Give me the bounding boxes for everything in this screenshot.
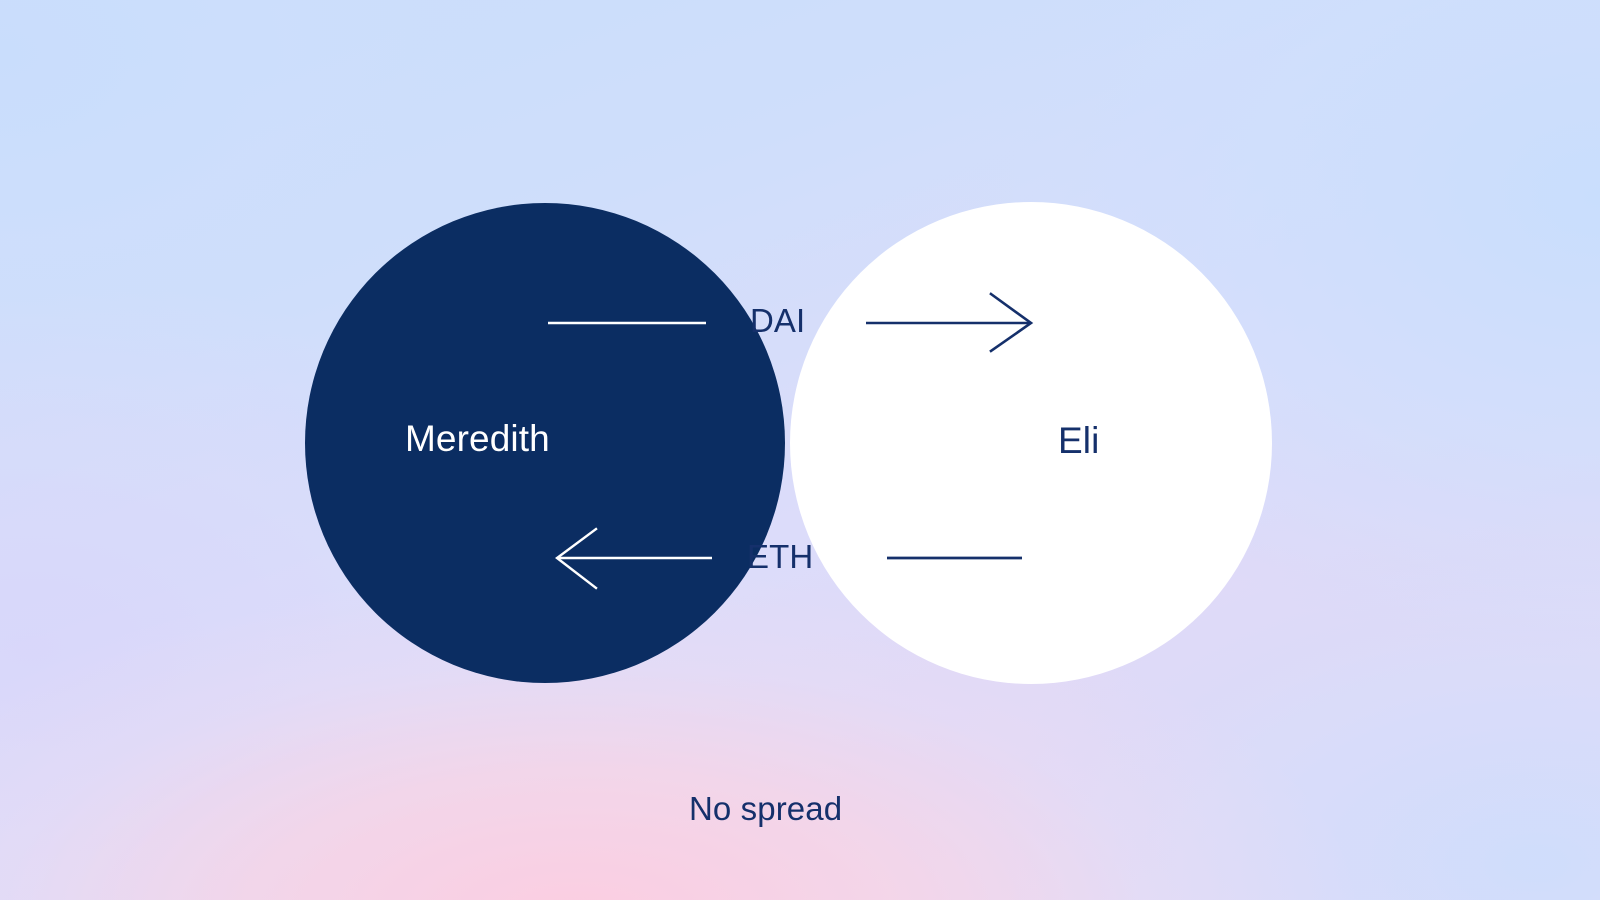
flow-label-dai: DAI: [750, 302, 805, 340]
flow-label-eth: ETH: [747, 538, 813, 576]
circle-eli: [790, 202, 1272, 684]
circle-label-meredith: Meredith: [405, 418, 550, 460]
venn-diagram-svg: [0, 0, 1600, 900]
circle-label-eli: Eli: [1058, 420, 1099, 462]
diagram-canvas: Meredith Eli DAI ETH No spread: [0, 0, 1600, 900]
caption-no-spread: No spread: [689, 790, 842, 828]
